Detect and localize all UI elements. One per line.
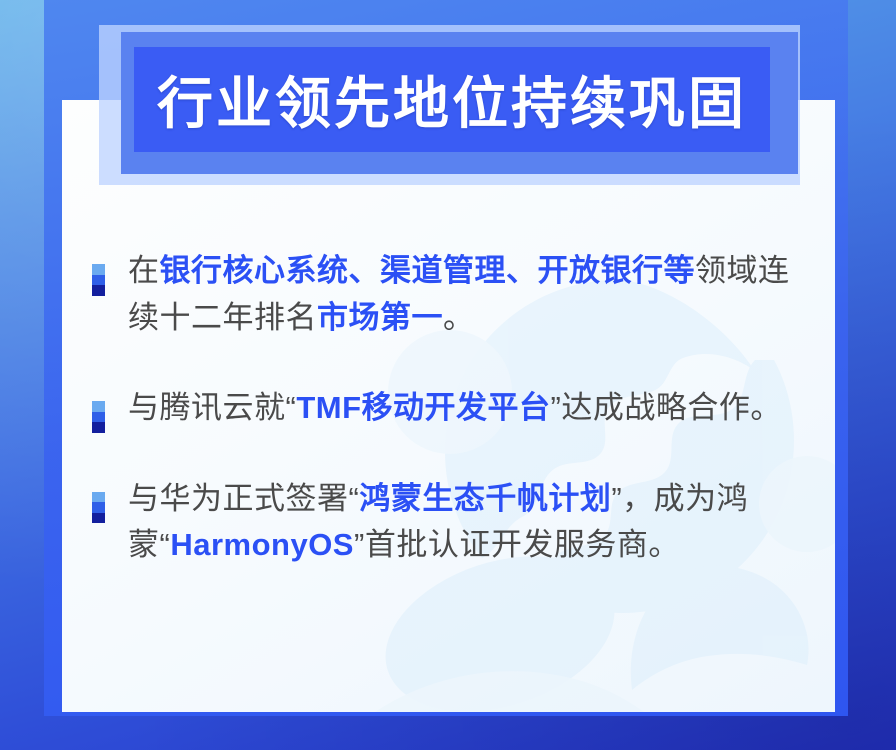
highlight-text: 鸿蒙生态千帆计划 — [359, 481, 611, 516]
page-title: 行业领先地位持续巩固 — [134, 47, 770, 152]
plain-text: 在 — [128, 253, 160, 288]
plain-text: 与华为正式签署 — [128, 481, 349, 516]
plain-text: 与腾讯云就 — [128, 390, 286, 425]
list-item: 在银行核心系统、渠道管理、开放银行等领域连续十二年排名市场第一。 — [92, 248, 802, 341]
plain-text: ” — [354, 527, 365, 562]
plain-text: ” — [611, 481, 622, 516]
plain-text: “ — [349, 481, 360, 516]
bullet-text: 在银行核心系统、渠道管理、开放银行等领域连续十二年排名市场第一。 — [128, 248, 802, 341]
list-item: 与腾讯云就“TMF移动开发平台”达成战略合作。 — [92, 385, 802, 432]
plain-text: 达成战略合作。 — [561, 390, 782, 425]
gradient-bar-marker-icon — [92, 401, 105, 433]
plain-text: 首批认证开发服务商。 — [365, 527, 680, 562]
list-item: 与华为正式签署“鸿蒙生态千帆计划”，成为鸿蒙“HarmonyOS”首批认证开发服… — [92, 476, 802, 569]
plain-text: “ — [160, 527, 171, 562]
highlight-text: HarmonyOS — [170, 527, 354, 562]
plain-text: 。 — [443, 300, 475, 335]
bullet-text: 与华为正式签署“鸿蒙生态千帆计划”，成为鸿蒙“HarmonyOS”首批认证开发服… — [128, 476, 802, 569]
highlight-text: TMF移动开发平台 — [296, 390, 550, 425]
plain-text: ” — [551, 390, 562, 425]
highlight-text: 市场第一 — [317, 300, 443, 335]
plain-text: “ — [286, 390, 297, 425]
gradient-bar-marker-icon — [92, 492, 105, 524]
gradient-bar-marker-icon — [92, 264, 105, 296]
bullet-list: 在银行核心系统、渠道管理、开放银行等领域连续十二年排名市场第一。 与腾讯云就“T… — [92, 248, 802, 569]
highlight-text: 银行核心系统、渠道管理、开放银行等 — [160, 253, 696, 288]
poster-root: 行业领先地位持续巩固 在银行核心系统、渠道管理、开放银行等领域连续十二年排名市场… — [0, 0, 896, 750]
bullet-text: 与腾讯云就“TMF移动开发平台”达成战略合作。 — [128, 385, 802, 432]
